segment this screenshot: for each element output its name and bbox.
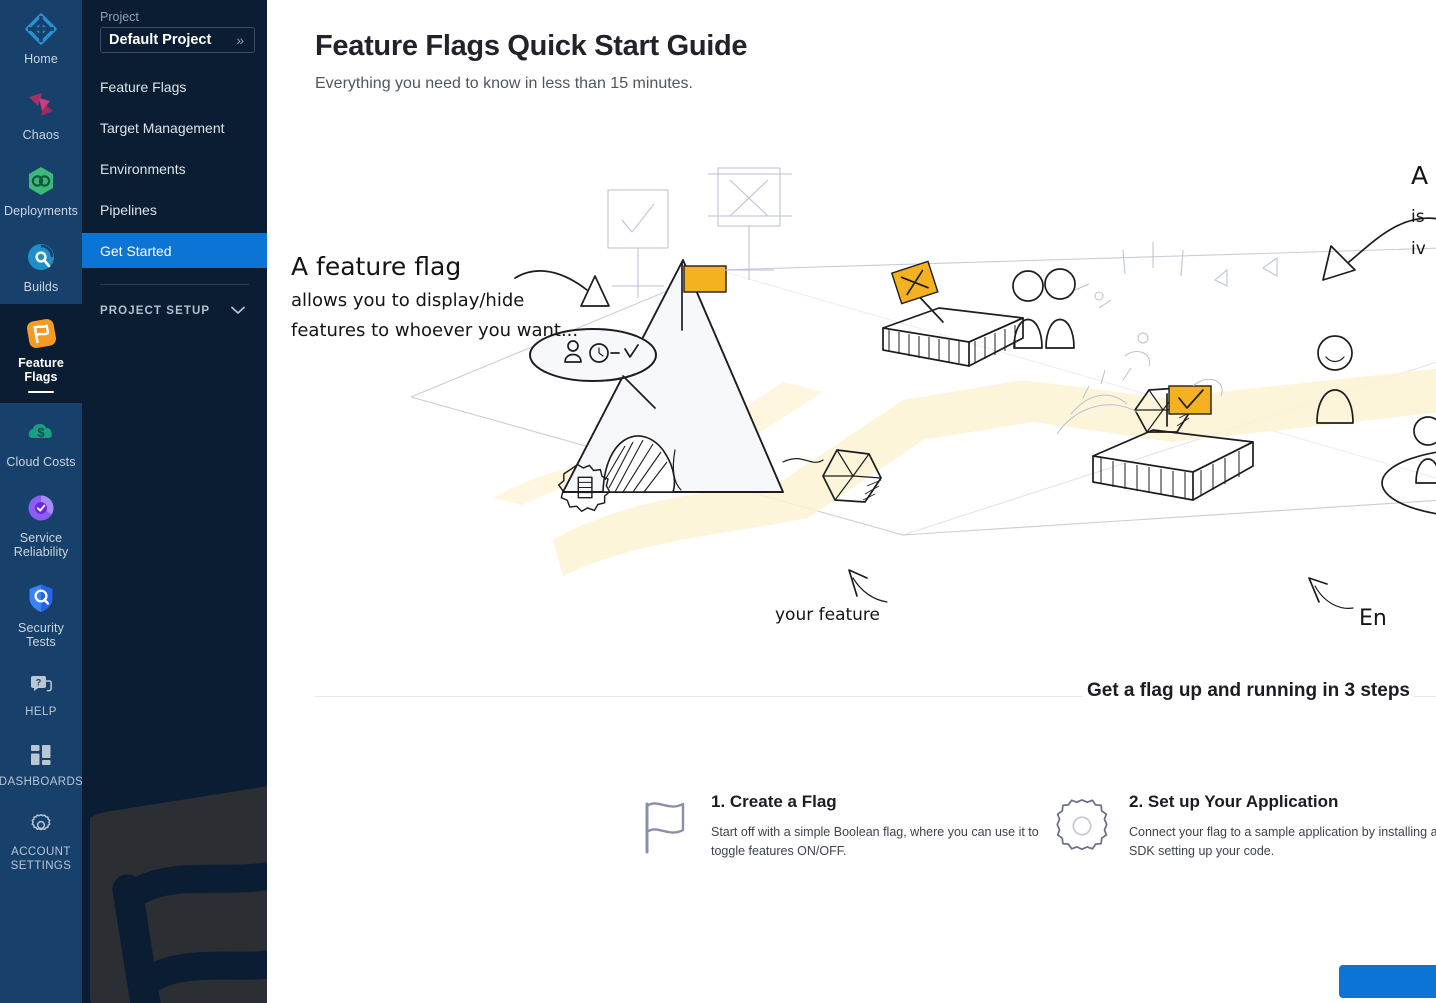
caption-env-partial: En bbox=[1359, 606, 1387, 631]
chevron-double-right-icon: » bbox=[236, 32, 246, 48]
page-title: Feature Flags Quick Start Guide bbox=[315, 30, 1436, 63]
step-description: Connect your flag to a sample applicatio… bbox=[1129, 823, 1436, 861]
caption-your-feature: your feature bbox=[775, 605, 880, 625]
project-nav-panel: Project Default Project » Feature Flags … bbox=[82, 0, 267, 1003]
builds-icon bbox=[25, 242, 57, 272]
steps-grid: 1. Create a Flag Start off with a simple… bbox=[635, 792, 1436, 861]
rail-item-account-settings[interactable]: ACCOUNT SETTINGS bbox=[0, 799, 82, 883]
account-settings-gear-icon bbox=[29, 813, 53, 837]
gear-outline-icon bbox=[1053, 792, 1111, 861]
rail-item-label: HELP bbox=[25, 705, 57, 719]
project-selector[interactable]: Default Project » bbox=[100, 27, 255, 53]
rail-item-label: ACCOUNT SETTINGS bbox=[11, 845, 72, 873]
rail-item-label: Home bbox=[24, 52, 58, 66]
step-title: 2. Set up Your Application bbox=[1129, 792, 1436, 812]
rail-item-deployments[interactable]: Deployments bbox=[0, 152, 82, 228]
steps-heading: Get a flag up and running in 3 steps bbox=[1083, 680, 1414, 702]
help-icon: ? bbox=[29, 673, 53, 697]
deployments-icon bbox=[25, 166, 57, 196]
rail-item-label: Chaos bbox=[23, 128, 60, 142]
step-body: 1. Create a Flag Start off with a simple… bbox=[711, 792, 1053, 861]
rail-item-label: DASHBOARDS bbox=[0, 775, 82, 789]
rail-item-builds[interactable]: Builds bbox=[0, 228, 82, 304]
security-tests-icon bbox=[25, 583, 57, 613]
step-title: 1. Create a Flag bbox=[711, 792, 1053, 812]
rail-item-label: Feature Flags bbox=[2, 356, 80, 384]
app-root: Home Chaos Deployments bbox=[0, 0, 1436, 1003]
caption-right-iv: iv bbox=[1411, 239, 1426, 259]
caption-right-a: A bbox=[1411, 161, 1428, 190]
caption-line-2: allows you to display/hide bbox=[291, 290, 524, 311]
caption-line-3: features to whoever you want... bbox=[291, 320, 578, 341]
step-create-a-flag: 1. Create a Flag Start off with a simple… bbox=[635, 792, 1053, 861]
caption-right-is: is bbox=[1411, 207, 1425, 227]
active-underline bbox=[28, 391, 54, 393]
rail-item-help[interactable]: ? HELP bbox=[0, 659, 82, 729]
svg-text:?: ? bbox=[36, 677, 42, 687]
rail-item-label: Builds bbox=[24, 280, 59, 294]
sidebar-item-environments[interactable]: Environments bbox=[82, 151, 267, 186]
svg-text:$: $ bbox=[37, 425, 45, 440]
hero-illustration: .gl { fill:none; stroke:#c9cddb; stroke-… bbox=[267, 150, 1435, 660]
rail-item-dashboards[interactable]: DASHBOARDS bbox=[0, 729, 82, 799]
project-label: Project bbox=[82, 0, 267, 27]
flag-watermark-icon bbox=[90, 763, 267, 1003]
home-diamond-icon bbox=[25, 14, 57, 44]
dashboards-icon bbox=[30, 743, 52, 767]
rail-item-home[interactable]: Home bbox=[0, 0, 82, 76]
rail-item-cloud-costs[interactable]: $ Cloud Costs bbox=[0, 403, 82, 479]
rail-item-label: Service Reliability bbox=[14, 531, 69, 559]
main-content: Feature Flags Quick Start Guide Everythi… bbox=[267, 0, 1436, 1003]
step-description: Start off with a simple Boolean flag, wh… bbox=[711, 823, 1053, 861]
step-set-up-your-application: 2. Set up Your Application Connect your … bbox=[1053, 792, 1436, 861]
chevron-down-icon bbox=[231, 303, 245, 318]
flag-outline-icon bbox=[635, 792, 693, 861]
project-name: Default Project bbox=[109, 32, 211, 48]
step-body: 2. Set up Your Application Connect your … bbox=[1129, 792, 1436, 861]
project-setup-label: PROJECT SETUP bbox=[100, 305, 210, 317]
feature-flag-sketch: .gl { fill:none; stroke:#c9cddb; stroke-… bbox=[267, 150, 1436, 650]
rail-item-label: Cloud Costs bbox=[6, 455, 75, 469]
rail-item-label: Deployments bbox=[4, 204, 78, 218]
sidebar-item-pipelines[interactable]: Pipelines bbox=[82, 192, 267, 227]
service-reliability-icon bbox=[25, 493, 57, 523]
chaos-icon bbox=[25, 90, 57, 120]
sidebar-item-feature-flags[interactable]: Feature Flags bbox=[82, 69, 267, 104]
rail-item-chaos[interactable]: Chaos bbox=[0, 76, 82, 152]
rail-item-label: Security Tests bbox=[2, 621, 80, 649]
page-header: Feature Flags Quick Start Guide Everythi… bbox=[267, 0, 1436, 93]
get-started-button[interactable]: Get Started bbox=[1339, 965, 1436, 998]
module-rail: Home Chaos Deployments bbox=[0, 0, 82, 1003]
rail-item-feature-flags[interactable]: Feature Flags bbox=[0, 304, 82, 403]
sidebar-item-get-started[interactable]: Get Started bbox=[82, 233, 267, 268]
cloud-costs-icon: $ bbox=[25, 417, 57, 447]
sidebar-item-target-management[interactable]: Target Management bbox=[82, 110, 267, 145]
project-setup-section[interactable]: PROJECT SETUP bbox=[82, 285, 267, 318]
caption-line-1: A feature flag bbox=[291, 252, 461, 281]
page-subtitle: Everything you need to know in less than… bbox=[315, 75, 1436, 93]
feature-flags-icon bbox=[25, 318, 58, 348]
rail-item-service-reliability[interactable]: Service Reliability bbox=[0, 479, 82, 569]
rail-item-security-tests[interactable]: Security Tests bbox=[0, 569, 82, 659]
project-nav-list: Feature Flags Target Management Environm… bbox=[82, 69, 267, 268]
